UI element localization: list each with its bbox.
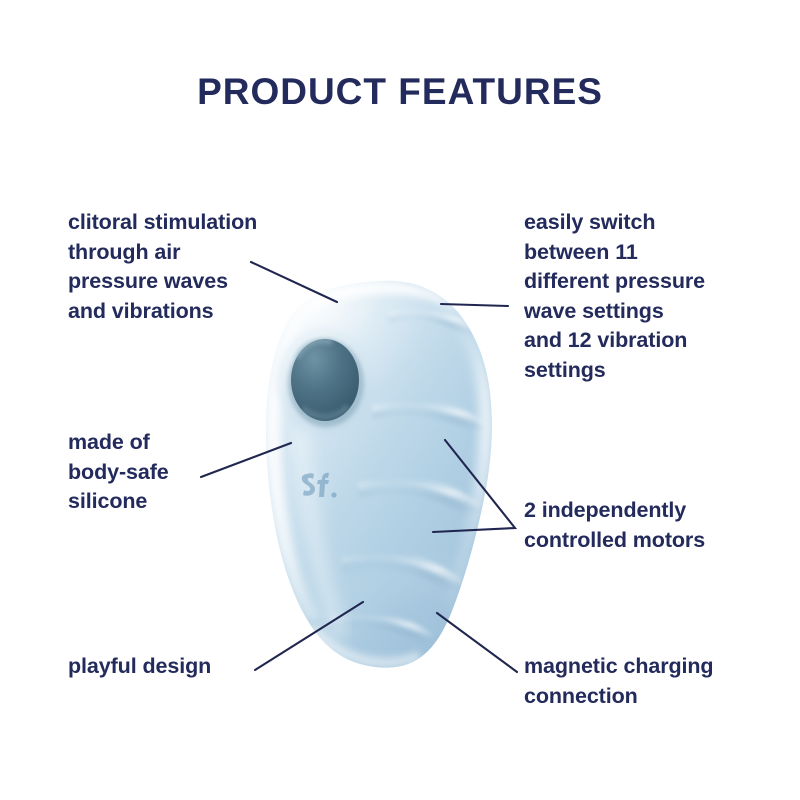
page-title: PRODUCT FEATURES bbox=[0, 70, 800, 114]
leader-line-charging bbox=[437, 613, 517, 672]
callout-playful-design: playful design bbox=[68, 652, 298, 682]
callout-body-safe-silicone: made of body-safe silicone bbox=[68, 428, 298, 517]
leader-line-motors bbox=[433, 440, 515, 532]
product-silhouette bbox=[266, 281, 492, 668]
leader-line-settings bbox=[441, 304, 508, 306]
air-pulse-opening bbox=[277, 329, 373, 433]
callout-pressure-wave-settings: easily switch between 11 different press… bbox=[524, 208, 774, 385]
shell-ridges bbox=[330, 310, 482, 645]
satisfyer-sf-logo bbox=[302, 473, 337, 498]
callout-magnetic-charging: magnetic charging connection bbox=[524, 652, 774, 711]
product-features-infographic: PRODUCT FEATURES bbox=[0, 0, 800, 800]
callout-clitoral-stimulation: clitoral stimulation through air pressur… bbox=[68, 208, 328, 326]
callout-independent-motors: 2 independently controlled motors bbox=[524, 496, 774, 555]
